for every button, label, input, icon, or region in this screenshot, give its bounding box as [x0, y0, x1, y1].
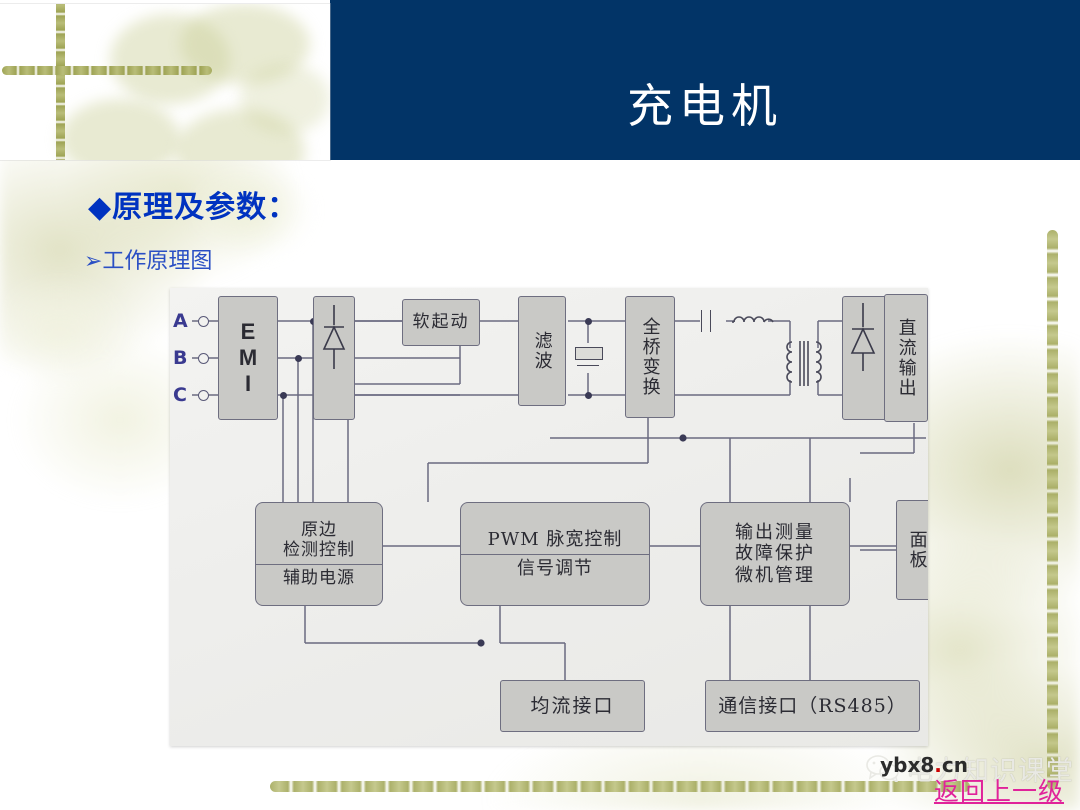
site-name: ybx8: [880, 753, 934, 777]
bamboo-stem-bottom-icon: [270, 781, 970, 792]
diagram-photo: A B C E M I: [170, 288, 928, 746]
terminal-dot-b-icon: [198, 353, 209, 364]
block-panel: 面板: [896, 500, 928, 600]
junction-node: [585, 392, 592, 399]
terminal-dot-c-icon: [198, 390, 209, 401]
block-dc-output-label: 直流输出: [895, 318, 916, 398]
bullet-sub: ➢工作原理图: [84, 243, 212, 275]
block-signal-cond-label: 信号调节: [461, 558, 649, 579]
block-output-measure-line3: 微机管理: [701, 565, 849, 586]
bamboo-horizontal-icon: [2, 66, 212, 75]
block-soft-start-label: 软起动: [403, 312, 479, 332]
bamboo-vertical-icon: [56, 4, 65, 160]
junction-node: [295, 355, 302, 362]
block-current-share: 均流接口: [500, 680, 645, 732]
bamboo-stem-right-icon: [1047, 230, 1058, 790]
block-output-measure-line1: 输出测量: [701, 522, 849, 543]
terminal-label-a: A: [173, 310, 188, 332]
terminal-label-c: C: [173, 384, 187, 406]
block-full-bridge: 全桥变换: [625, 296, 675, 418]
block-dc-output: 直流输出: [884, 294, 928, 422]
block-primary-detect-line1: 原边: [256, 520, 382, 540]
back-link[interactable]: 返回上一级: [934, 772, 1064, 808]
block-filter: 滤波: [518, 296, 566, 406]
block-primary-detect: 原边 检测控制 辅助电源: [255, 502, 383, 606]
diode-symbol-icon: [843, 297, 883, 377]
block-filter-label: 滤波: [531, 331, 552, 371]
block-full-bridge-label: 全桥变换: [639, 317, 660, 397]
block-panel-label: 面板: [906, 530, 927, 570]
block-emi: E M I: [218, 296, 278, 420]
block-output-measure-line2: 故障保护: [701, 543, 849, 564]
block-current-share-label: 均流接口: [501, 695, 644, 717]
terminal-label-b: B: [173, 347, 187, 369]
block-emi-line2: M: [219, 345, 277, 371]
page-title: 充电机: [330, 0, 1080, 160]
junction-node: [585, 318, 592, 325]
block-emi-line3: I: [219, 371, 277, 397]
block-soft-start: 软起动: [402, 299, 480, 346]
capacitor-symbol-icon: [575, 343, 601, 373]
block-input-rectifier: [313, 296, 355, 420]
series-capacitor-icon: [697, 310, 719, 332]
block-pwm-control: PWM 脉宽控制 信号调节: [460, 502, 650, 606]
junction-node: [280, 392, 287, 399]
terminal-dot-a-icon: [198, 316, 209, 327]
block-output-measure: 输出测量 故障保护 微机管理: [700, 502, 850, 606]
block-comm-port-label: 通信接口（RS485）: [706, 695, 919, 717]
decorative-card: [0, 4, 330, 160]
block-pwm-label: PWM 脉宽控制: [461, 529, 649, 550]
inductor-symbol-icon: [732, 308, 776, 328]
block-emi-line1: E: [219, 319, 277, 345]
bullet-main: ◆原理及参数：: [88, 182, 298, 226]
transformer-symbol-icon: [782, 340, 826, 390]
slide-canvas: 充电机 ◆原理及参数： ➢工作原理图: [0, 0, 1080, 810]
diode-symbol-icon: [314, 297, 354, 377]
block-comm-port: 通信接口（RS485）: [705, 680, 920, 732]
block-aux-power-label: 辅助电源: [256, 568, 382, 588]
block-primary-detect-line2: 检测控制: [256, 540, 382, 560]
